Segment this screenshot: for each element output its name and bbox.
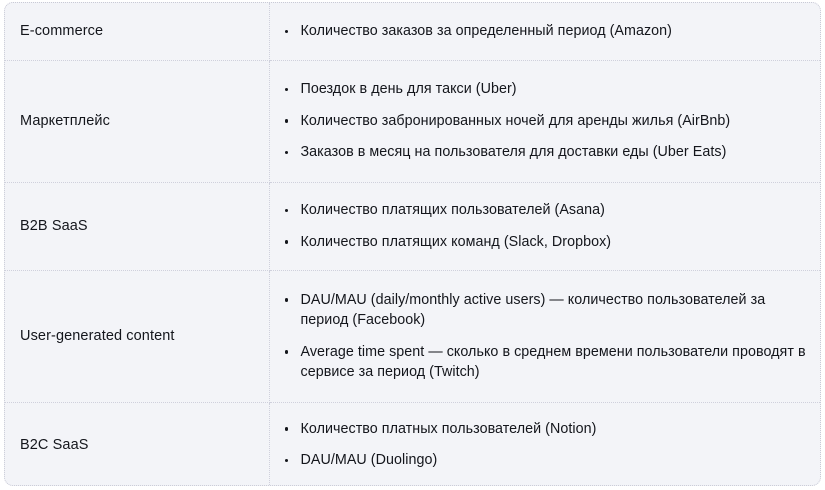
bullet-dot-icon (285, 298, 289, 302)
business-model-label: User-generated content (20, 328, 175, 344)
metric-text: Количество забронированных ночей для аре… (301, 113, 731, 129)
metrics-list-cell: DAU/MAU (daily/monthly active users) — к… (269, 270, 820, 402)
metrics-list: Поездок в день для такси (Uber) Количест… (280, 79, 807, 163)
list-item: Заказов в месяц на пользователя для дост… (280, 142, 807, 163)
business-model-label-cell: Маркетплейс (5, 60, 269, 182)
metric-text: Количество платящих пользователей (Asana… (301, 202, 605, 218)
table-row: User-generated content DAU/MAU (daily/mo… (5, 270, 820, 402)
bullet-dot-icon (285, 119, 289, 123)
metric-text: Количество платных пользователей (Notion… (301, 421, 597, 437)
bullet-dot-icon (285, 151, 289, 155)
business-model-label: Маркетплейс (20, 113, 110, 129)
metric-text: Количество заказов за определенный перио… (301, 23, 672, 39)
metric-text: Заказов в месяц на пользователя для дост… (301, 144, 727, 160)
metric-text: DAU/MAU (Duolingo) (301, 452, 438, 468)
metrics-list: Количество платящих пользователей (Asana… (280, 200, 807, 252)
business-model-label-cell: User-generated content (5, 270, 269, 402)
metrics-table-card: E-commerce Количество заказов за определ… (4, 2, 821, 486)
metrics-list-cell: Поездок в день для такси (Uber) Количест… (269, 60, 820, 182)
metrics-table: E-commerce Количество заказов за определ… (5, 3, 820, 486)
list-item: Количество заказов за определенный перио… (280, 21, 807, 42)
list-item: Количество платных пользователей (Notion… (280, 419, 807, 440)
bullet-dot-icon (285, 427, 289, 431)
metrics-list-cell: Количество заказов за определенный перио… (269, 3, 820, 60)
business-model-label: E-commerce (20, 23, 103, 39)
metrics-list: Количество платных пользователей (Notion… (280, 419, 807, 471)
business-model-label: B2B SaaS (20, 218, 88, 234)
bullet-dot-icon (285, 240, 289, 244)
metrics-list-cell: Количество платящих пользователей (Asana… (269, 182, 820, 270)
list-item: DAU/MAU (daily/monthly active users) — к… (280, 290, 807, 331)
metrics-list: Количество заказов за определенный перио… (280, 21, 807, 42)
metric-text: Average time spent — сколько в среднем в… (301, 344, 806, 381)
table-row: B2B SaaS Количество платящих пользовател… (5, 182, 820, 270)
list-item: Поездок в день для такси (Uber) (280, 79, 807, 100)
metric-text: Количество платящих команд (Slack, Dropb… (301, 234, 612, 250)
list-item: Количество платящих пользователей (Asana… (280, 200, 807, 221)
table-row: E-commerce Количество заказов за определ… (5, 3, 820, 60)
metric-text: DAU/MAU (daily/monthly active users) — к… (301, 292, 766, 329)
list-item: Количество платящих команд (Slack, Dropb… (280, 232, 807, 253)
metric-text: Поездок в день для такси (Uber) (301, 81, 517, 97)
metrics-list: DAU/MAU (daily/monthly active users) — к… (280, 290, 807, 383)
business-model-label-cell: B2C SaaS (5, 402, 269, 486)
business-model-label-cell: E-commerce (5, 3, 269, 60)
bullet-dot-icon (285, 459, 289, 463)
list-item: Average time spent — сколько в среднем в… (280, 342, 807, 383)
business-model-label: B2C SaaS (20, 437, 89, 453)
table-row: B2C SaaS Количество платных пользователе… (5, 402, 820, 486)
list-item: Количество забронированных ночей для аре… (280, 111, 807, 132)
list-item: DAU/MAU (Duolingo) (280, 450, 807, 471)
table-row: Маркетплейс Поездок в день для такси (Ub… (5, 60, 820, 182)
bullet-dot-icon (285, 30, 289, 34)
bullet-dot-icon (285, 209, 289, 213)
bullet-dot-icon (285, 350, 289, 354)
bullet-dot-icon (285, 88, 289, 92)
metrics-list-cell: Количество платных пользователей (Notion… (269, 402, 820, 486)
business-model-label-cell: B2B SaaS (5, 182, 269, 270)
